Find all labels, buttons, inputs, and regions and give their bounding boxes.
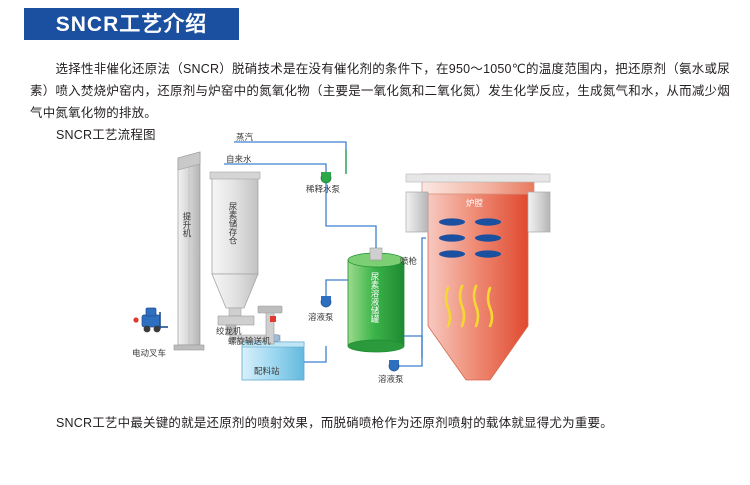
sncr-process-flow-diagram: 蒸汽 自来水 稀释水泵 提升机 尿素储存仓 绞龙机 螺旋输送机 电动叉车 配料站…	[130, 130, 630, 400]
footer-paragraph: SNCR工艺中最关键的就是还原剂的喷射效果，而脱硝喷枪作为还原剂喷射的载体就显得…	[56, 412, 736, 434]
label-tap-water: 自来水	[226, 154, 252, 165]
label-spray-gun: 喷枪	[400, 256, 417, 267]
label-furnace-wall: 炉膛	[466, 198, 483, 209]
label-urea-silo: 尿素储存仓	[228, 202, 238, 245]
label-steam: 蒸汽	[236, 132, 253, 143]
label-forklift: 电动叉车	[132, 348, 166, 359]
label-dosing-pump: 溶液泵	[308, 312, 334, 323]
label-solution-pump: 溶液泵	[378, 374, 404, 385]
label-batching-station: 配料站	[254, 366, 280, 377]
page-title: SNCR工艺介绍	[56, 14, 208, 35]
lift-machine-shape	[174, 152, 204, 350]
page-title-banner: SNCR工艺介绍	[24, 8, 239, 40]
intro-paragraph: 选择性非催化还原法（SNCR）脱硝技术是在没有催化剂的条件下，在950～1050…	[30, 58, 730, 124]
spray-feed-pipe	[422, 238, 426, 358]
dosing-pipe	[326, 280, 348, 298]
label-screw-conveyor: 螺旋输送机	[228, 336, 271, 347]
batching-discharge-pipe	[304, 346, 326, 362]
label-urea-solution-tank: 尿素溶液储罐	[370, 272, 380, 323]
label-dilution-pump: 稀释水泵	[306, 184, 340, 195]
forklift-shape	[133, 308, 168, 332]
label-lift-machine: 提升机	[182, 212, 192, 238]
